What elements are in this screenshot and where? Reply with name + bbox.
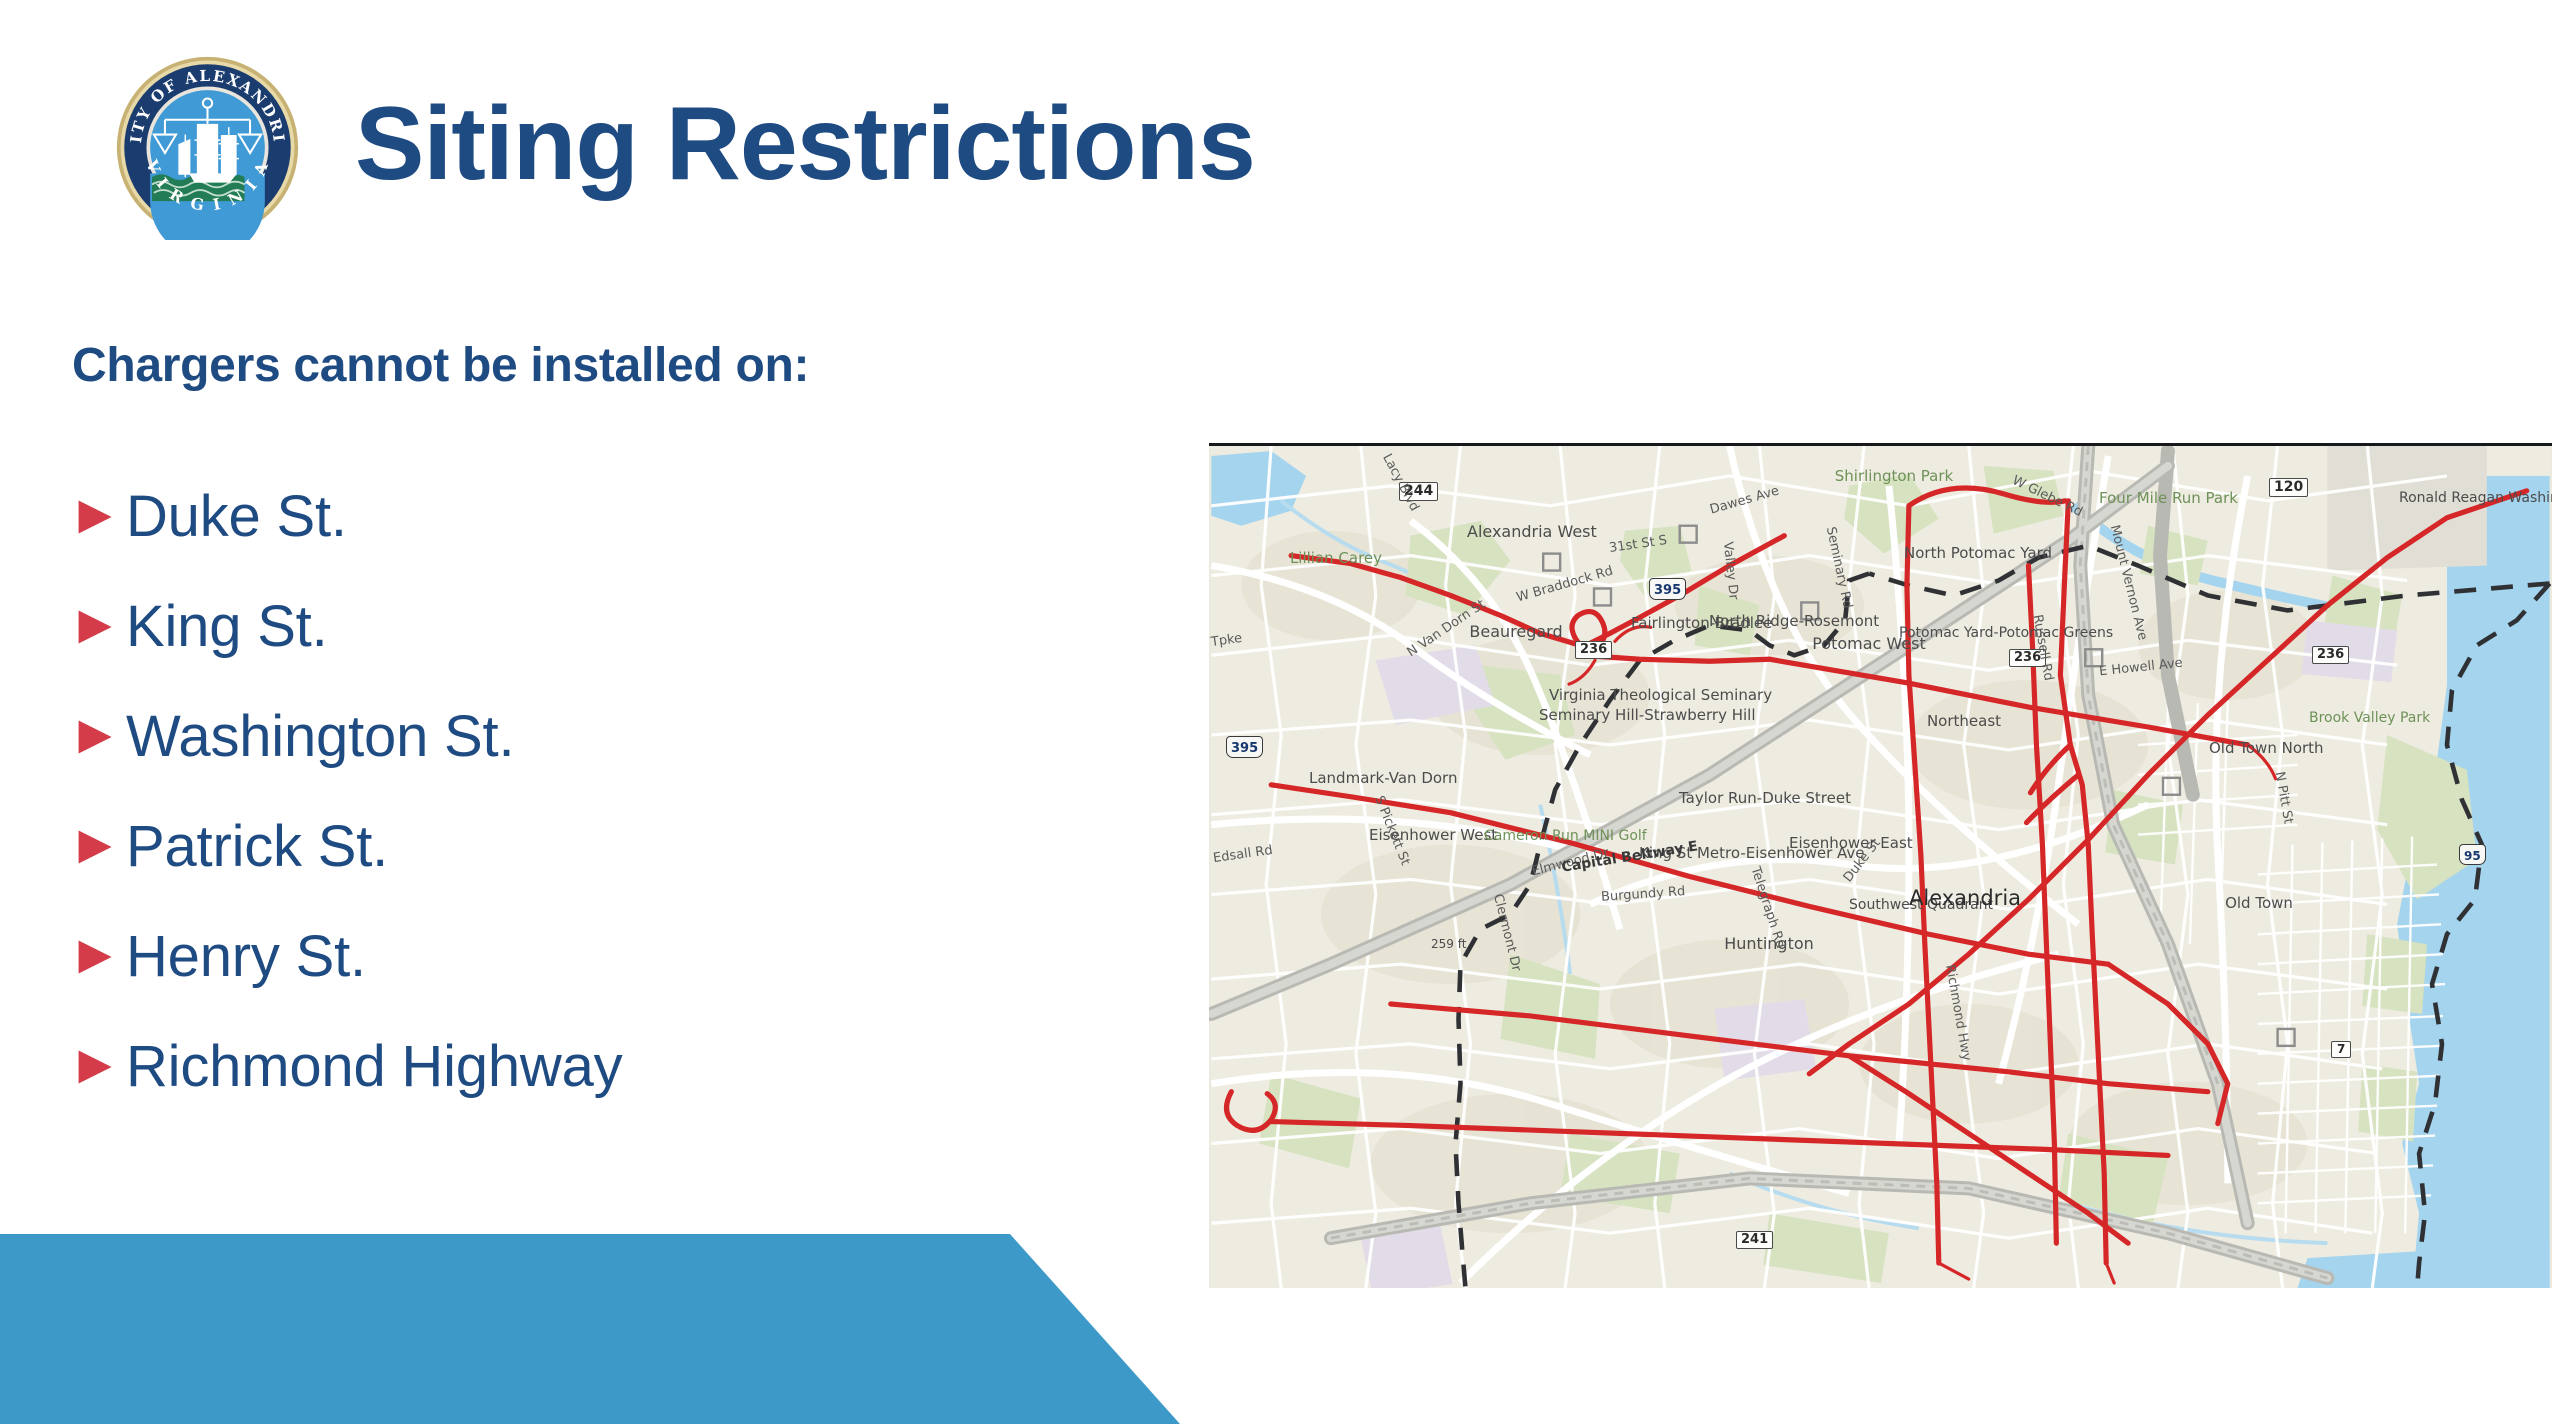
route-shield-i95: 95 xyxy=(2459,844,2486,865)
restriction-list: Duke St. King St. Washington St. Patrick… xyxy=(72,462,1022,1122)
list-item: Henry St. xyxy=(72,902,1022,1012)
list-item: Washington St. xyxy=(72,682,1022,792)
city-of-alexandria-seal-icon: CITY OF ALEXANDRIA ★ V I R G I N I A ★ xyxy=(115,55,300,240)
map-canvas xyxy=(1209,446,2552,1288)
list-item: Patrick St. xyxy=(72,792,1022,902)
route-shield-236-west: 236 xyxy=(1575,641,1612,659)
list-item: Duke St. xyxy=(72,462,1022,572)
restriction-label: King St. xyxy=(126,598,328,656)
restriction-label: Richmond Highway xyxy=(126,1038,622,1096)
route-shield-120: 120 xyxy=(2269,478,2308,497)
route-shield-i395-north: 395 xyxy=(1649,578,1686,600)
route-shield-7: 7 xyxy=(2331,1041,2351,1058)
restriction-label: Duke St. xyxy=(126,488,347,546)
restriction-label: Washington St. xyxy=(126,708,514,766)
list-item: Richmond Highway xyxy=(72,1012,1022,1122)
list-item: King St. xyxy=(72,572,1022,682)
triangle-right-icon xyxy=(72,1045,116,1089)
triangle-right-icon xyxy=(72,935,116,979)
alexandria-restricted-corridors-map[interactable]: 244 244 120 395 395 236 236 236 95 241 7… xyxy=(1209,443,2552,1288)
route-shield-244: 244 xyxy=(1399,482,1438,501)
route-shield-236-east: 236 xyxy=(2009,649,2046,667)
restriction-label: Henry St. xyxy=(126,928,366,986)
triangle-right-icon xyxy=(72,715,116,759)
triangle-right-icon xyxy=(72,495,116,539)
triangle-right-icon xyxy=(72,825,116,869)
route-shield-241: 241 xyxy=(1736,1231,1773,1249)
decorative-banner xyxy=(0,1234,1200,1424)
restriction-label: Patrick St. xyxy=(126,818,388,876)
route-shield-i395-south: 395 xyxy=(1226,736,1263,758)
triangle-right-icon xyxy=(72,605,116,649)
subheading: Chargers cannot be installed on: xyxy=(72,338,809,393)
route-shield-236-mid: 236 xyxy=(2312,646,2349,664)
page-title: Siting Restrictions xyxy=(355,92,1255,196)
